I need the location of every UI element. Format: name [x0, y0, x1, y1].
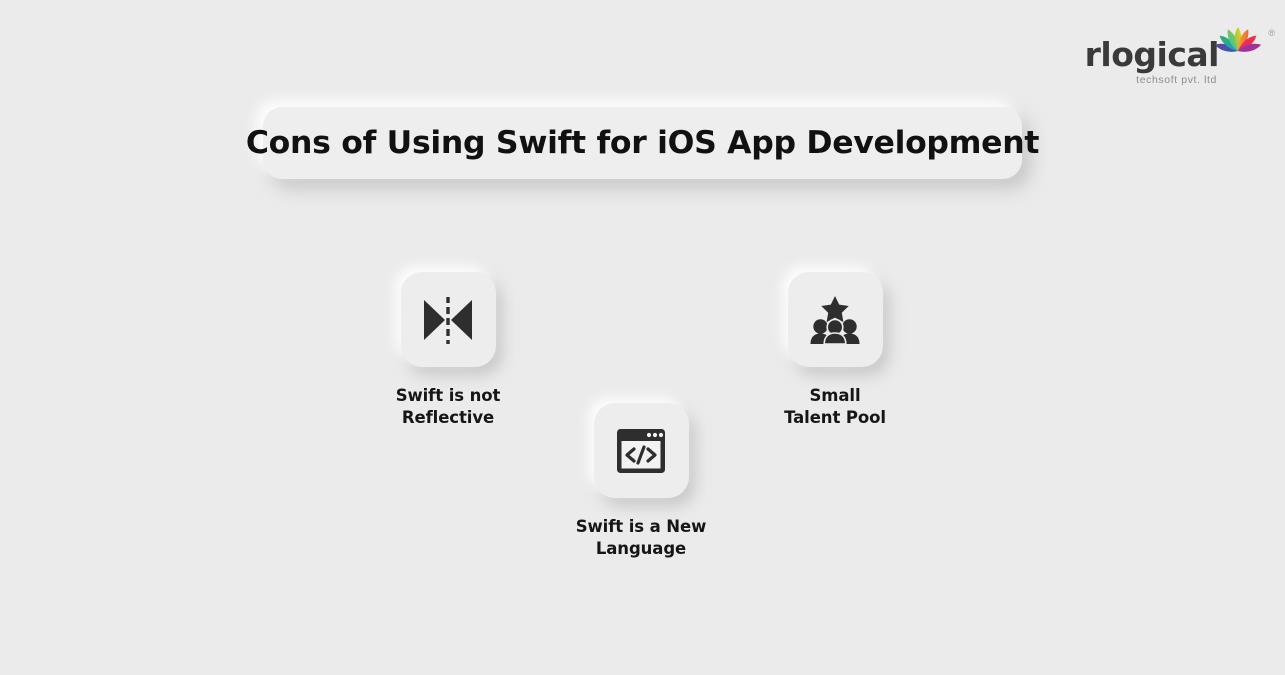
logo-text-block: rlogical techsoft pvt. ltd	[1085, 24, 1219, 86]
feature-label: Swift is not Reflective	[396, 385, 501, 430]
logo-mark: ®	[1213, 24, 1263, 76]
feature-icon-card[interactable]	[401, 272, 496, 367]
logo-tagline: techsoft pvt. ltd	[1136, 74, 1217, 86]
page-title: Cons of Using Swift for iOS App Developm…	[246, 125, 1039, 161]
brand-logo[interactable]: rlogical techsoft pvt. ltd	[1085, 24, 1263, 84]
people-star-icon	[809, 295, 861, 345]
mirror-reflect-icon	[420, 295, 476, 345]
feature-label: Swift is a New Language	[576, 516, 707, 561]
feature-icon-card[interactable]	[788, 272, 883, 367]
code-window-icon	[615, 427, 667, 475]
title-banner: Cons of Using Swift for iOS App Developm…	[263, 107, 1022, 179]
rainbow-petal-icon	[1213, 24, 1263, 76]
feature-item-swift-not-reflective[interactable]: Swift is not Reflective	[353, 272, 543, 430]
registered-trademark-icon: ®	[1268, 28, 1275, 38]
feature-icon-card[interactable]	[594, 403, 689, 498]
feature-item-small-talent-pool[interactable]: Small Talent Pool	[740, 272, 930, 430]
logo-wordmark: rlogical	[1085, 38, 1219, 71]
feature-item-swift-new-language[interactable]: Swift is a New Language	[546, 403, 736, 561]
feature-label: Small Talent Pool	[784, 385, 886, 430]
